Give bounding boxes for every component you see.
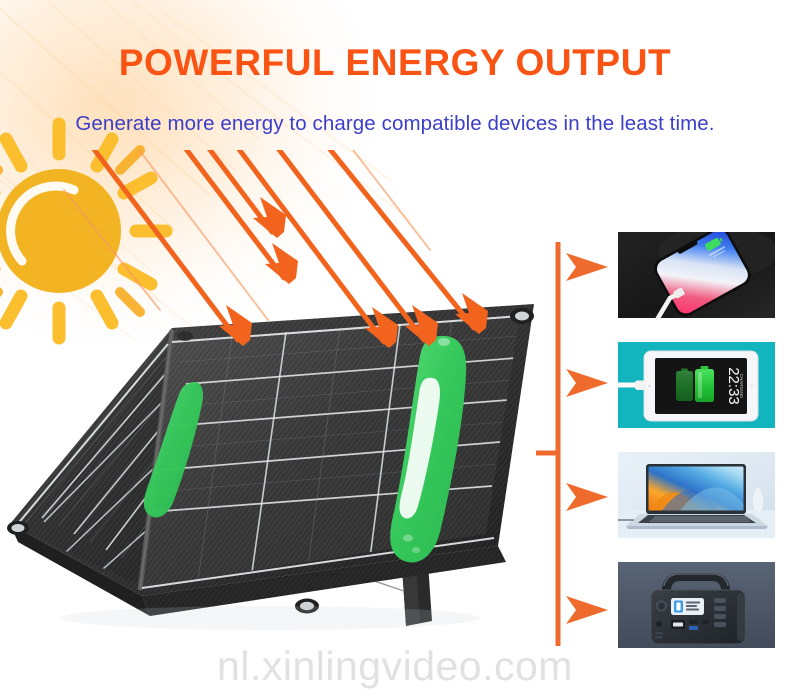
connector-arrow-1 <box>566 253 608 281</box>
thumbnail-laptop-charging[interactable] <box>618 452 775 538</box>
page-title: POWERFUL ENERGY OUTPUT <box>0 42 790 84</box>
tablet-clock: 22:33 CHARGING <box>725 367 744 405</box>
laptop-base <box>626 514 768 529</box>
ray-line-3 <box>186 150 272 232</box>
thumbnail-smartphone-charging[interactable] <box>618 232 775 318</box>
laptop-charging-image <box>618 452 775 538</box>
laptop-screen <box>646 464 746 514</box>
foldable-solar-panel <box>0 296 580 656</box>
power-station-image <box>618 562 775 648</box>
svg-text:CHARGING: CHARGING <box>739 374 744 399</box>
banner-canvas: POWERFUL ENERGY OUTPUT Generate more ene… <box>0 0 790 698</box>
power-station-display <box>671 598 704 615</box>
tablet-charging-image: 22:33 CHARGING <box>618 342 775 428</box>
thumbnail-power-station[interactable] <box>618 562 775 648</box>
smartphone-charging-image <box>618 232 775 318</box>
thumbnail-tablet-charging[interactable]: 22:33 CHARGING <box>618 342 775 428</box>
